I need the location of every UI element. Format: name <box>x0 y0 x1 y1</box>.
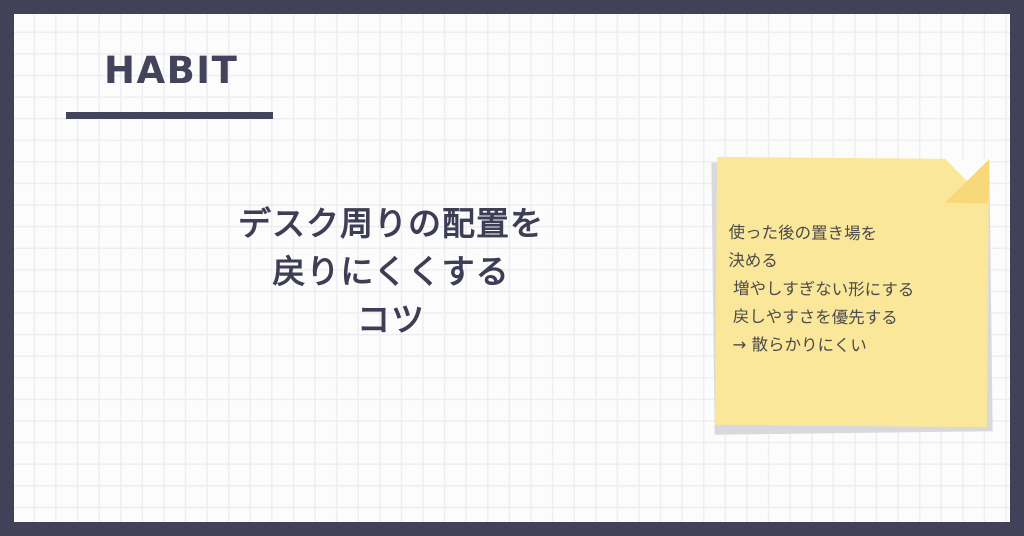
sticky-note-body: 使った後の置き場を 決める 増やしすぎない形にする 戻しやすさを優先する → 散… <box>727 219 980 361</box>
kicker-underline-rule <box>66 112 273 119</box>
sticky-note-folded-corner-icon <box>945 159 989 203</box>
note-line-1: 使った後の置き場を <box>728 219 980 249</box>
page-title: デスク周りの配置を 戻りにくくする コツ <box>76 200 706 344</box>
sticky-note-paper: 使った後の置き場を 決める 増やしすぎない形にする 戻しやすさを優先する → 散… <box>715 157 989 427</box>
note-line-4: 戻しやすさを優先する <box>728 303 980 333</box>
note-line-2: 決める <box>728 247 980 277</box>
headline-line-3: コツ <box>76 296 706 344</box>
note-line-3: 増やしすぎない形にする <box>728 275 980 305</box>
sticky-note: 使った後の置き場を 決める 増やしすぎない形にする 戻しやすさを優先する → 散… <box>711 155 993 430</box>
kicker-block: HABIT <box>66 52 273 119</box>
kicker-label: HABIT <box>66 52 273 89</box>
headline-line-2: 戻りにくくする <box>76 248 706 296</box>
grid-paper-canvas: HABIT デスク周りの配置を 戻りにくくする コツ 使った後の置き場を 決める… <box>14 14 1010 522</box>
slide-frame: HABIT デスク周りの配置を 戻りにくくする コツ 使った後の置き場を 決める… <box>0 0 1024 536</box>
headline-line-1: デスク周りの配置を <box>76 200 706 248</box>
note-line-5: → 散らかりにくい <box>727 331 979 361</box>
